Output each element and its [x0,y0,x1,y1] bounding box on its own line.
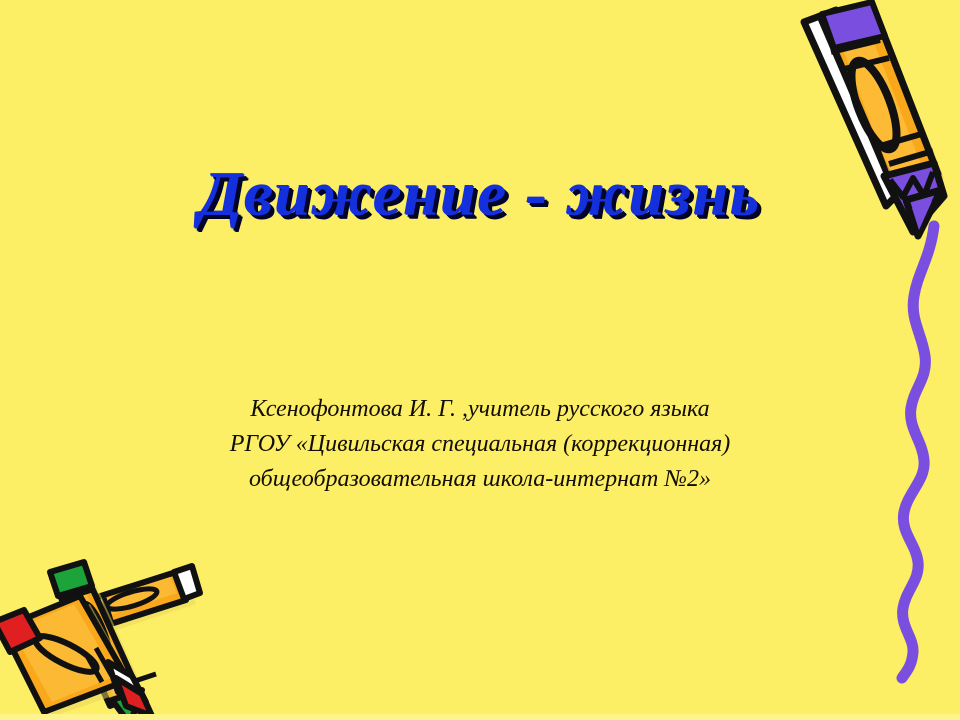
crayon-horizontal-icon [88,566,200,634]
purple-wavy-line-illustration [0,0,960,720]
bottom-edge-strip [0,714,960,720]
subtitle-line-1: Ксенофонтова И. Г. ,учитель русского язы… [120,392,840,427]
subtitle-block: Ксенофонтова И. Г. ,учитель русского язы… [120,392,840,497]
page-title: Движение - жизнь [199,160,761,231]
crayon-green-tip-icon [50,562,156,720]
crayon-top-right-illustration [0,0,960,720]
subtitle-line-2: РГОУ «Цивильская специальная (коррекцион… [120,427,840,462]
orange-crayon-purple-tip-icon [804,2,944,236]
title-block: Движение - жизнь [0,160,960,231]
crayon-red-tip-icon [0,596,152,718]
crayons-bottom-left-illustration [0,0,960,720]
slide-canvas: Движение - жизнь Ксенофонтова И. Г. ,учи… [0,0,960,720]
subtitle-line-3: общеобразовательная школа-интернат №2» [120,462,840,497]
purple-wavy-line-icon [902,226,934,678]
